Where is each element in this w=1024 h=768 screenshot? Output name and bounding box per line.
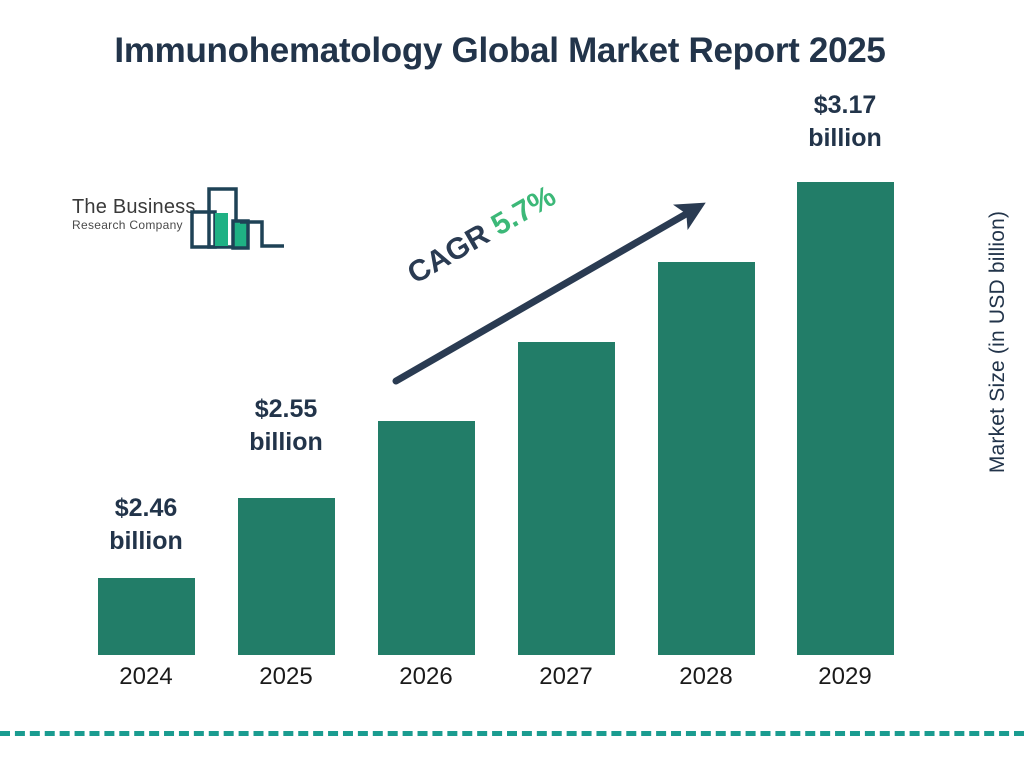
bar-value-2024-unit: billion xyxy=(76,525,216,558)
y-axis-title: Market Size (in USD billion) xyxy=(986,182,1010,502)
x-tick-2028: 2028 xyxy=(636,663,776,691)
x-tick-2026: 2026 xyxy=(356,663,496,691)
bar-value-2029-unit: billion xyxy=(775,122,915,155)
x-tick-2027: 2027 xyxy=(496,663,636,691)
bar-2029[interactable] xyxy=(797,182,894,655)
bar-value-2025-unit: billion xyxy=(216,426,356,459)
bar-value-2029-amount: $3.17 xyxy=(775,89,915,122)
bar-value-2024: $2.46 billion xyxy=(76,492,216,558)
bar-value-2024-amount: $2.46 xyxy=(76,492,216,525)
chart-canvas: Immunohematology Global Market Report 20… xyxy=(0,0,1024,768)
bar-2024[interactable] xyxy=(98,578,195,655)
footer-divider xyxy=(0,731,1024,736)
bar-value-2025-amount: $2.55 xyxy=(216,393,356,426)
x-tick-2029: 2029 xyxy=(775,663,915,691)
bar-2027[interactable] xyxy=(518,342,615,655)
x-tick-2024: 2024 xyxy=(76,663,216,691)
bar-value-2025: $2.55 billion xyxy=(216,393,356,459)
bar-value-2029: $3.17 billion xyxy=(775,89,915,155)
plot-area: $2.46 billion 2024 $2.55 billion 2025 20… xyxy=(0,0,1024,768)
bar-2025[interactable] xyxy=(238,498,335,655)
bar-2026[interactable] xyxy=(378,421,475,655)
x-tick-2025: 2025 xyxy=(216,663,356,691)
bar-2028[interactable] xyxy=(658,262,755,655)
